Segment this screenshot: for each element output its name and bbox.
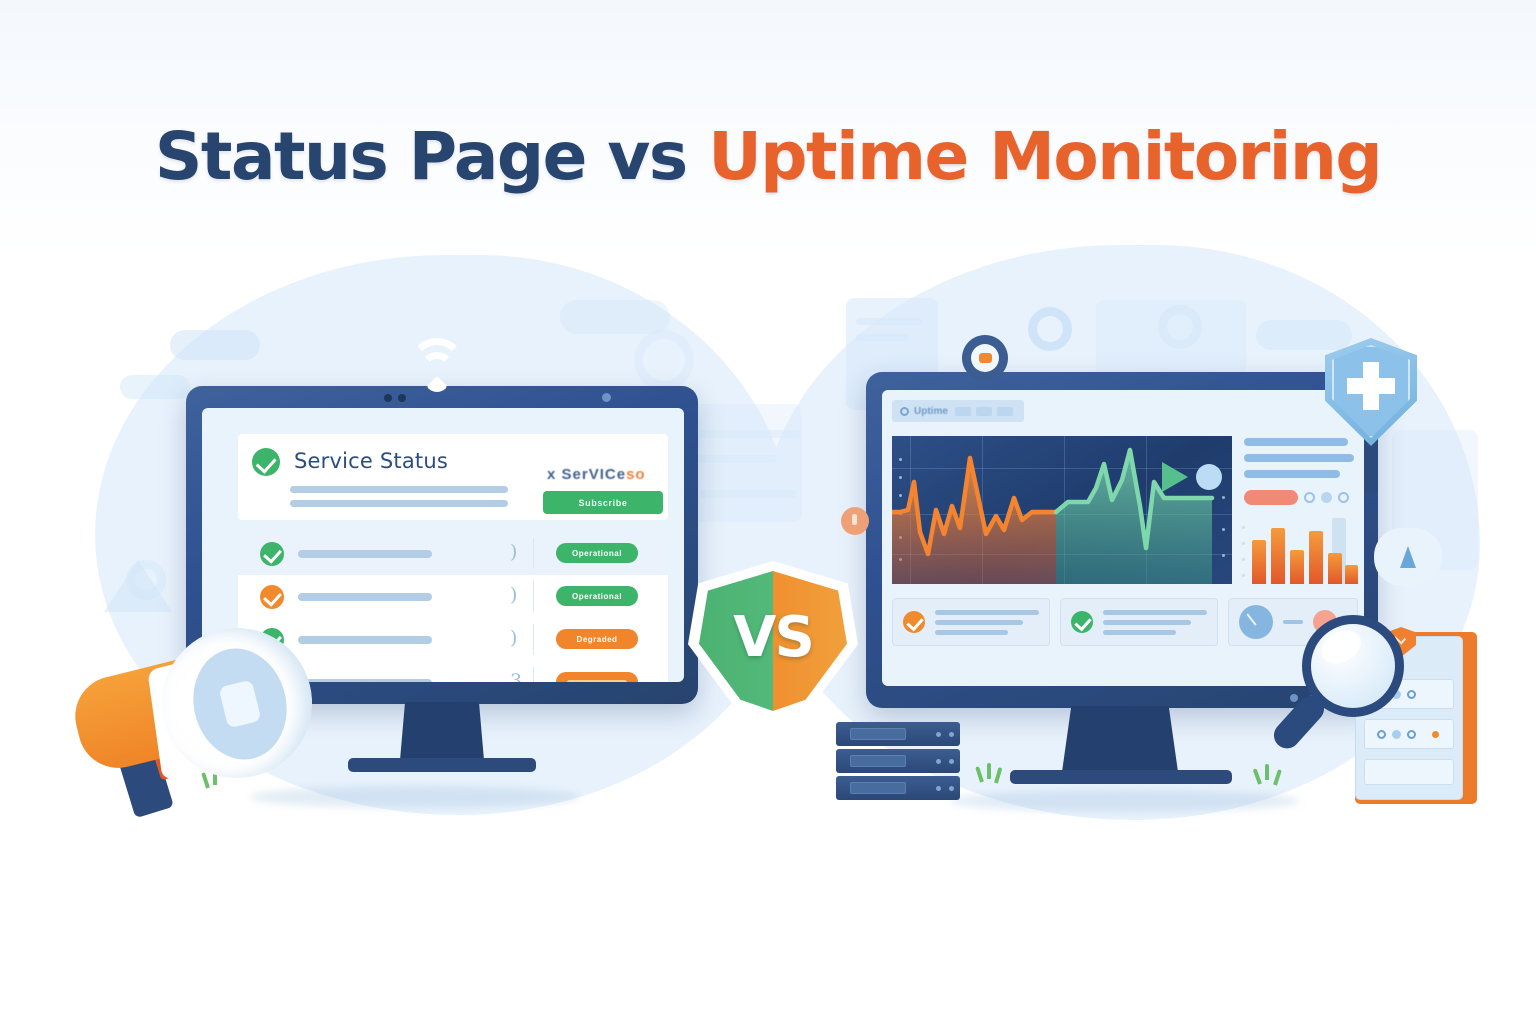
server-unit	[836, 776, 960, 800]
sidebar-ring-icon	[1304, 492, 1315, 503]
brand-label: x SerVICeso	[547, 466, 646, 483]
check-circle-icon	[260, 585, 284, 609]
metric-bar	[1328, 553, 1342, 584]
status-page-title: Service Status	[294, 449, 448, 473]
server-stack-icon	[836, 722, 960, 800]
dashboard-label: Uptime	[914, 406, 948, 417]
rocket-icon	[1374, 528, 1442, 586]
wifi-icon	[404, 338, 470, 394]
server-led	[949, 786, 954, 791]
badge-progress-bar	[567, 680, 626, 683]
lock-icon	[841, 507, 869, 535]
info-line	[1103, 620, 1191, 625]
header-line-2	[290, 500, 508, 507]
brand-prefix: x	[547, 466, 556, 483]
row-divider	[533, 667, 534, 682]
status-badge	[556, 672, 638, 682]
gauge-needle	[1247, 614, 1257, 626]
gear-icon	[1028, 307, 1072, 351]
info-line	[935, 610, 1039, 615]
status-badge: Operational	[556, 543, 638, 563]
megaphone-icon	[62, 628, 332, 813]
info-card[interactable]	[1060, 598, 1218, 646]
cloud-icon	[560, 300, 670, 334]
topbar-segment	[976, 407, 992, 416]
info-card[interactable]	[892, 598, 1050, 646]
illustration-canvas: Status Page vs Uptime Monitoring Service…	[0, 0, 1536, 1024]
uptime-chart-panel[interactable]	[892, 436, 1232, 584]
server-led	[936, 786, 941, 791]
decor-line	[856, 334, 908, 341]
camera-dot	[384, 394, 392, 402]
gauge-icon	[1239, 605, 1273, 639]
brand-text: SerVICe	[562, 466, 627, 483]
bar-axis-tick	[1242, 542, 1245, 545]
cloud-icon	[120, 375, 190, 399]
server-tray	[850, 728, 906, 740]
sidebar-ring-icon	[1321, 492, 1332, 503]
camera-dot	[398, 394, 406, 402]
bar-axis-tick	[1242, 526, 1245, 529]
info-line	[1103, 610, 1207, 615]
server-tray	[850, 755, 906, 767]
metric-bar	[1290, 550, 1304, 584]
gear-badge-icon	[962, 335, 1008, 381]
power-led	[602, 393, 611, 402]
dashboard-sidebar	[1242, 436, 1358, 584]
decor-triangle	[104, 560, 172, 612]
metric-bar	[1309, 531, 1323, 584]
title-part-dark: Status Page vs	[155, 118, 708, 195]
info-card-lines	[935, 610, 1039, 635]
right-monitor-shadow	[950, 790, 1300, 812]
row-divider	[533, 538, 534, 569]
row-meta: )	[510, 627, 517, 649]
vs-badge: VS	[688, 561, 858, 721]
slot-led-alert	[1432, 731, 1439, 738]
row-meta: )	[510, 584, 517, 606]
gear-icon	[634, 330, 694, 390]
service-name-bar	[298, 593, 432, 601]
topbar-segment	[997, 407, 1013, 416]
cross-icon	[1347, 378, 1395, 394]
table-row[interactable]: ) Operational	[238, 532, 668, 575]
server-unit	[836, 749, 960, 773]
info-line	[935, 630, 1008, 635]
rack-slot	[1364, 759, 1454, 785]
sidebar-text-line	[1244, 454, 1354, 462]
cloud-icon	[170, 330, 260, 360]
monitor-base	[348, 758, 536, 772]
gear-badge-core	[971, 344, 999, 372]
topbar-segment	[955, 407, 971, 416]
page-title: Status Page vs Uptime Monitoring	[0, 118, 1536, 195]
metric-bar	[1271, 528, 1285, 584]
brand-suffix: so	[626, 466, 646, 483]
server-led	[936, 759, 941, 764]
magnifying-glass-icon	[1284, 615, 1414, 745]
table-row[interactable]: ) Operational	[238, 575, 668, 618]
rocket-body	[1400, 546, 1416, 568]
uptime-chart-svg	[892, 436, 1232, 584]
check-circle-icon	[903, 611, 925, 633]
status-dot	[1196, 464, 1222, 490]
decor-line	[856, 318, 922, 325]
header-line-1	[290, 486, 508, 493]
server-tray	[850, 782, 906, 794]
info-line	[1103, 630, 1176, 635]
monitor-base	[1010, 770, 1232, 784]
sidebar-ring-icon	[1338, 492, 1349, 503]
play-icon[interactable]	[1162, 462, 1188, 492]
service-name-bar	[298, 550, 432, 558]
shield-health-icon	[1325, 338, 1417, 446]
dashboard-topbar[interactable]: Uptime	[892, 400, 1024, 422]
monitor-neck	[1062, 706, 1178, 772]
vs-badge-label: VS	[688, 561, 858, 721]
row-meta: 3	[510, 670, 522, 682]
circle-icon	[900, 407, 909, 416]
subscribe-button[interactable]: Subscribe	[543, 491, 663, 514]
info-card-lines	[1103, 610, 1207, 635]
bar-axis-tick	[1242, 574, 1245, 577]
monitor-neck	[400, 702, 484, 760]
server-led	[936, 732, 941, 737]
status-badge: Degraded	[556, 629, 638, 649]
check-circle-icon	[260, 542, 284, 566]
metric-bar	[1345, 565, 1358, 584]
server-led	[949, 732, 954, 737]
info-line	[935, 620, 1023, 625]
sidebar-text-line	[1244, 470, 1340, 478]
check-circle-icon	[1071, 611, 1093, 633]
server-led	[949, 759, 954, 764]
bar-axis-tick	[1242, 558, 1245, 561]
row-divider	[533, 581, 534, 612]
status-badge: Operational	[556, 586, 638, 606]
row-meta: )	[510, 541, 517, 563]
metric-bar	[1252, 540, 1266, 584]
check-circle-icon	[252, 448, 280, 476]
title-part-accent: Uptime Monitoring	[708, 118, 1381, 195]
row-divider	[533, 624, 534, 655]
sidebar-alert-pill	[1244, 490, 1298, 505]
server-unit	[836, 722, 960, 746]
gear-icon	[1158, 305, 1202, 349]
